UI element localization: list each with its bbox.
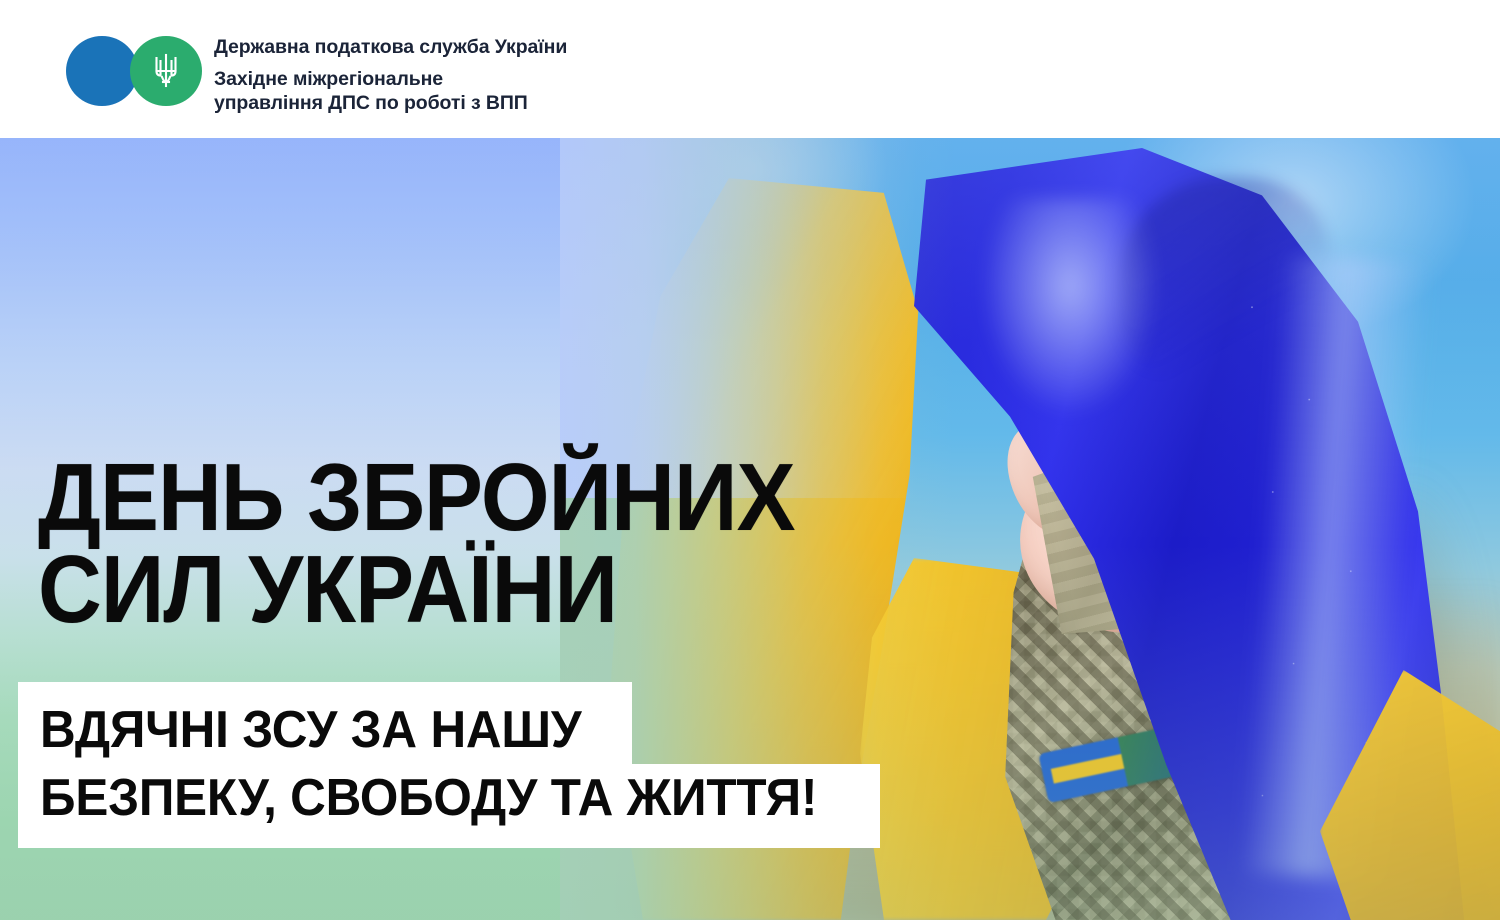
subtitle-line-2: БЕЗПЕКУ, СВОБОДУ ТА ЖИТТЯ! [18, 764, 880, 848]
org-title-secondary-part1: Західне міжрегіональне [214, 67, 567, 91]
subtitle-line-2-text: БЕЗПЕКУ, СВОБОДУ ТА ЖИТТЯ! [40, 764, 817, 832]
subtitle-line-1-text: ВДЯЧНІ ЗСУ ЗА НАШУ [40, 696, 581, 764]
logo-green-circle-icon [130, 36, 202, 106]
poster-stage: ДЕНЬ ЗБРОЙНИХ СИЛ УКРАЇНИ ВДЯЧНІ ЗСУ ЗА … [0, 138, 1500, 920]
organization-name: Державна податкова служба України Західн… [214, 36, 567, 115]
headline-line-2: СИЛ УКРАЇНИ [38, 544, 795, 636]
org-title-secondary-part2: управління ДПС по роботі з ВПП [214, 91, 567, 115]
poster-canvas: ДЕНЬ ЗБРОЙНИХ СИЛ УКРАЇНИ ВДЯЧНІ ЗСУ ЗА … [0, 0, 1500, 920]
subtitle-block: ВДЯЧНІ ЗСУ ЗА НАШУ БЕЗПЕКУ, СВОБОДУ ТА Ж… [18, 682, 880, 848]
headline-line-1: ДЕНЬ ЗБРОЙНИХ [38, 452, 795, 544]
tryzub-icon [151, 51, 181, 91]
logo-blue-circle-icon [66, 36, 138, 106]
header-bar: Державна податкова служба України Західн… [0, 0, 1500, 138]
org-title-secondary: Західне міжрегіональне управління ДПС по… [214, 67, 567, 115]
org-title-primary: Державна податкова служба України [214, 36, 567, 59]
page-title: ДЕНЬ ЗБРОЙНИХ СИЛ УКРАЇНИ [38, 452, 795, 636]
subtitle-line-1: ВДЯЧНІ ЗСУ ЗА НАШУ [18, 682, 632, 764]
flag-blue-highlight [980, 198, 1160, 418]
organization-logo [66, 36, 206, 106]
